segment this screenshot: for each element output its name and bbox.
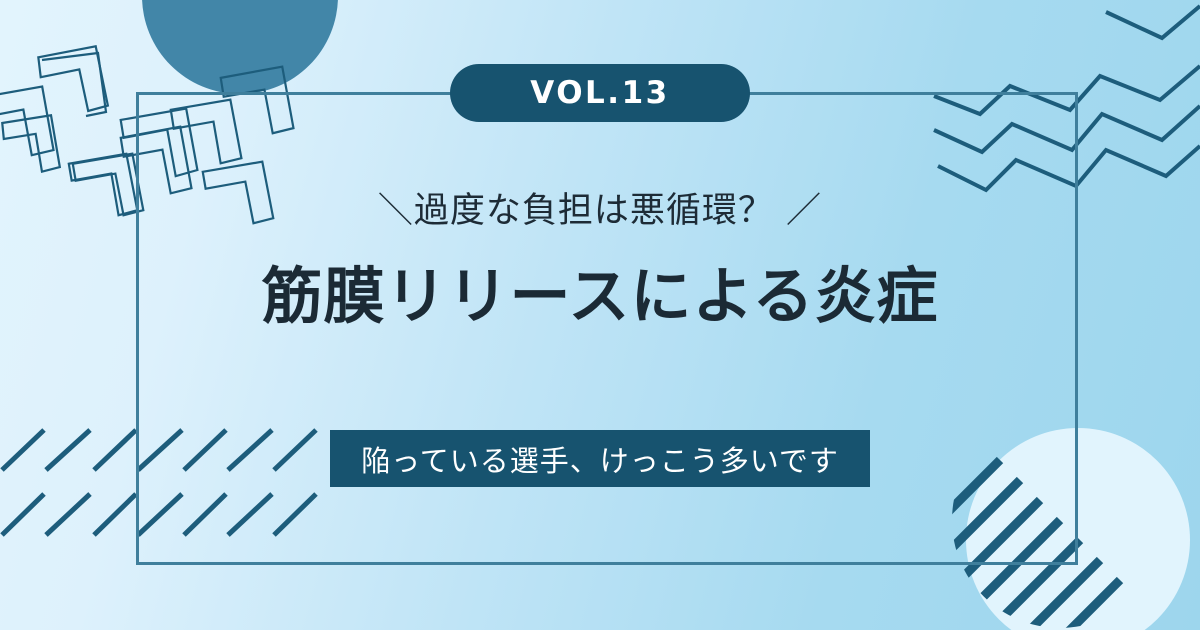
subtitle-banner: 陥っている選手、けっこう多いです	[330, 430, 870, 487]
page-title: 筋膜リリースによる炎症	[0, 262, 1200, 332]
kicker-text: ＼過度な負担は悪循環？ ／	[0, 190, 1200, 232]
volume-badge: VOL.13	[450, 64, 750, 122]
volume-badge-label: VOL.13	[530, 75, 669, 111]
headline-block: ＼過度な負担は悪循環？ ／ 筋膜リリースによる炎症	[0, 190, 1200, 332]
poster-canvas: VOL.13 ＼過度な負担は悪循環？ ／ 筋膜リリースによる炎症 陥っている選手…	[0, 0, 1200, 630]
top-left-filled-circle-icon	[142, 0, 338, 94]
subtitle-banner-label: 陥っている選手、けっこう多いです	[361, 438, 839, 480]
